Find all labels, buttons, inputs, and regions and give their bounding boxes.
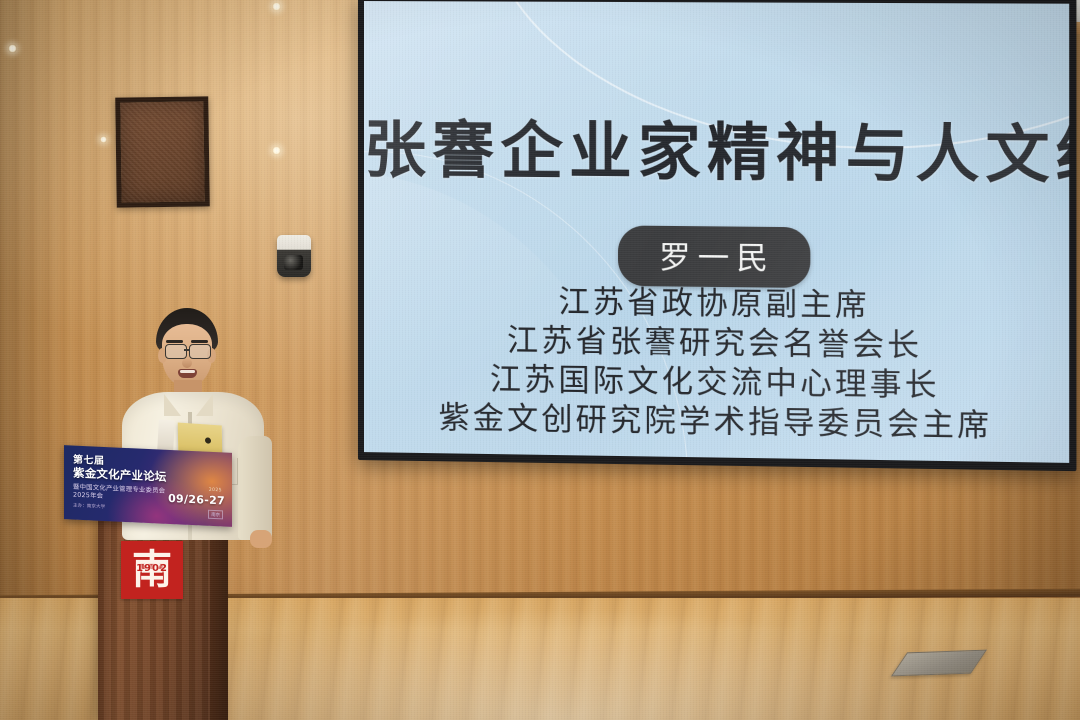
banner-footer: 主办：南京大学 [73,504,105,511]
hand [250,530,272,548]
eyeglass-lens-right [189,344,211,359]
podium-banner: 第七届 紫金文化产业论坛 暨中国文化产业管理专业委员会 2025年会 主办：南京… [64,445,232,527]
papers-on-podium [157,420,175,453]
speaker-name-badge: 罗一民 [618,225,810,288]
slide-title: 张謇企业家精神与人文经济 [364,99,1069,195]
eyeglass-bridge [184,349,190,351]
shirt-collar-left [164,394,181,416]
ceiling-spot-light [272,146,281,155]
wall-access-panel [115,96,210,207]
arm-right [238,436,272,540]
banner-line-2: 紫金文化产业论坛 [73,467,167,484]
eyeglass-lens-left [165,344,187,359]
logo-year: 1902 [121,563,183,574]
mouth [178,369,197,378]
wall-sensor-device [277,235,311,277]
eyebrow-left [166,340,183,343]
conference-photo-scene: 张謇企业家精神与人文经济 罗一民 江苏省政协原副主席 江苏省张謇研究会名誉会长 … [0,0,1080,720]
ceiling-spot-light [100,136,107,143]
banner-heading: 第七届 紫金文化产业论坛 [73,454,167,484]
projection-screen[interactable]: 张謇企业家精神与人文经济 罗一民 江苏省政协原副主席 江苏省张謇研究会名誉会长 … [364,1,1069,463]
nose [182,358,192,368]
projection-screen-frame: 张謇企业家精神与人文经济 罗一民 江苏省政协原副主席 江苏省张謇研究会名誉会长 … [358,0,1076,471]
ceiling-spot-light [8,44,17,53]
sensor-lens [284,255,303,270]
ceiling-spot-light [272,2,281,11]
slide-credentials: 江苏省政协原副主席 江苏省张謇研究会名誉会长 江苏国际文化交流中心理事长 紫金文… [364,281,1069,448]
laptop-logo-dot [205,437,211,443]
eyebrow-right [191,340,208,343]
university-logo: 南 1902 [121,541,183,599]
shirt-collar-right [196,394,213,416]
banner-subtitle: 暨中国文化产业管理专业委员会 2025年会 [73,483,165,504]
credential-line: 紫金文创研究院学术指导委员会主席 [364,398,1069,448]
podium-side [210,524,228,720]
banner-date: 09/26-27 [168,492,225,508]
banner-place: 南京 [208,510,223,520]
banner-date-label: 2025 [209,488,222,494]
